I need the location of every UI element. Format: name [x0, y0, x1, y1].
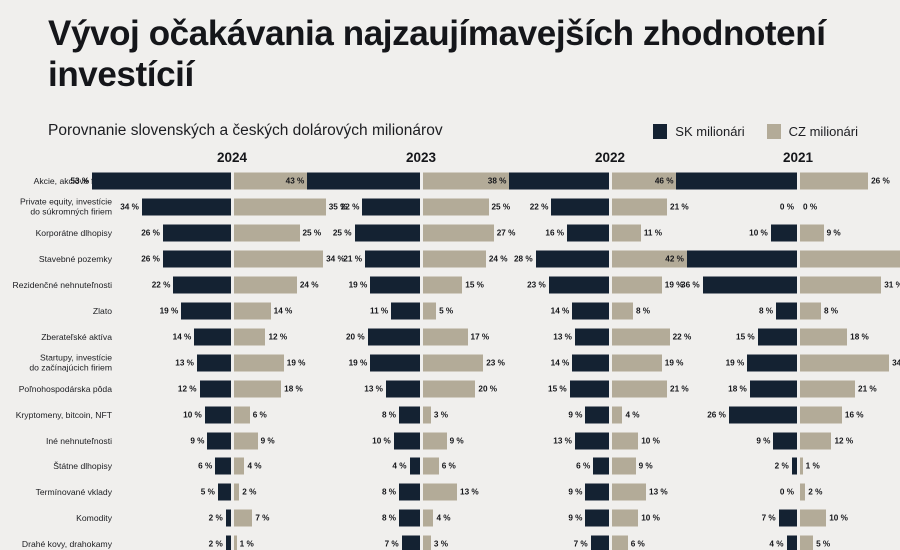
legend-item-sk[interactable]: SK milionári — [653, 124, 744, 139]
bar-cz[interactable] — [234, 458, 244, 475]
category-label: Zberateľské aktíva — [0, 331, 112, 341]
value-label-sk: 20 % — [346, 332, 365, 341]
category-label: Private equity, investície do súkromných… — [0, 196, 112, 217]
value-label-cz: 20 % — [478, 384, 497, 393]
bar-cz[interactable] — [234, 198, 326, 215]
value-label-sk: 9 % — [568, 410, 582, 419]
bar-cz[interactable] — [800, 432, 831, 449]
bar-sk[interactable] — [585, 484, 609, 501]
value-label-sk: 13 % — [364, 384, 383, 393]
value-label-sk: 6 % — [198, 462, 212, 471]
value-label-sk: 12 % — [178, 384, 197, 393]
value-label-cz: 19 % — [287, 358, 306, 367]
bar-cz[interactable] — [423, 302, 436, 319]
bar-sk[interactable] — [386, 380, 420, 397]
category-label: Kryptomeny, bitcoin, NFT — [0, 409, 112, 419]
bar-cz[interactable] — [800, 484, 805, 501]
value-label-cz: 4 % — [247, 462, 261, 471]
category-label: Zlato — [0, 306, 112, 316]
bar-cz[interactable] — [612, 198, 667, 215]
value-label-sk: 36 % — [681, 280, 700, 289]
bar-sk[interactable] — [181, 302, 231, 319]
chart-subtitle: Porovnanie slovenských a českých dolárov… — [48, 122, 443, 140]
bar-sk[interactable] — [551, 198, 609, 215]
page-title: Vývoj očakávania najzaujímavejších zhodn… — [48, 14, 848, 95]
category-label: Korporátne dlhopisy — [0, 228, 112, 238]
value-label-cz: 15 % — [465, 280, 484, 289]
bar-cz[interactable] — [234, 380, 281, 397]
bar-cz[interactable] — [423, 458, 439, 475]
value-label-sk: 13 % — [553, 436, 572, 445]
bar-cz[interactable] — [800, 510, 826, 527]
value-label-cz: 12 % — [268, 332, 287, 341]
bar-cz[interactable] — [234, 484, 239, 501]
value-label-sk: 10 % — [749, 228, 768, 237]
bar-sk[interactable] — [536, 250, 609, 267]
bar-sk[interactable] — [593, 458, 609, 475]
bar-cz[interactable] — [423, 198, 489, 215]
category-label: Startupy, investície do začínajúcich fir… — [0, 352, 112, 373]
legend-swatch-icon — [653, 124, 667, 139]
value-label-sk: 26 % — [141, 228, 160, 237]
bar-cz[interactable] — [234, 510, 252, 527]
bar-sk[interactable] — [197, 354, 231, 371]
category-label: Komodity — [0, 513, 112, 523]
bar-cz[interactable] — [612, 224, 641, 241]
bar-sk[interactable] — [591, 536, 609, 550]
value-label-cz: 18 % — [850, 332, 869, 341]
category-label: Drahé kovy, drahokamy — [0, 539, 112, 549]
bar-sk[interactable] — [226, 536, 231, 550]
value-label-sk: 4 % — [769, 540, 783, 549]
value-label-cz: 9 % — [450, 436, 464, 445]
value-label-cz: 25 % — [303, 228, 322, 237]
value-label-sk: 7 % — [385, 540, 399, 549]
value-label-cz: 5 % — [816, 540, 830, 549]
value-label-cz: 9 % — [639, 462, 653, 471]
bar-sk[interactable] — [509, 173, 609, 190]
chart-page: Vývoj očakávania najzaujímavejších zhodn… — [0, 0, 900, 550]
bar-sk[interactable] — [773, 432, 797, 449]
year-header-2023: 2023 — [406, 150, 436, 165]
value-label-cz: 31 % — [884, 280, 900, 289]
value-label-sk: 34 % — [120, 202, 139, 211]
bar-sk[interactable] — [200, 380, 231, 397]
bar-sk[interactable] — [779, 510, 797, 527]
bar-cz[interactable] — [800, 406, 842, 423]
value-label-cz: 17 % — [471, 332, 490, 341]
value-label-sk: 19 % — [349, 280, 368, 289]
bar-sk[interactable] — [771, 224, 797, 241]
bar-sk[interactable] — [750, 380, 797, 397]
bar-sk[interactable] — [207, 432, 231, 449]
year-header-2022: 2022 — [595, 150, 625, 165]
bar-sk[interactable] — [394, 432, 420, 449]
value-label-cz: 14 % — [274, 306, 293, 315]
value-label-sk: 25 % — [333, 228, 352, 237]
bar-cz[interactable] — [612, 328, 670, 345]
bar-sk[interactable] — [758, 328, 797, 345]
value-label-cz: 22 % — [673, 332, 692, 341]
value-label-sk: 26 % — [707, 410, 726, 419]
bar-cz[interactable] — [423, 484, 457, 501]
bar-cz[interactable] — [423, 406, 431, 423]
value-label-sk: 19 % — [726, 358, 745, 367]
value-label-sk: 7 % — [574, 540, 588, 549]
value-label-cz: 7 % — [255, 514, 269, 523]
value-label-cz: 9 % — [261, 436, 275, 445]
subtitle-legend-row: Porovnanie slovenských a českých dolárov… — [48, 118, 858, 144]
value-label-sk: 0 % — [780, 488, 794, 497]
value-label-cz: 6 % — [253, 410, 267, 419]
value-label-cz: 5 % — [439, 306, 453, 315]
value-label-sk: 4 % — [392, 462, 406, 471]
bar-cz[interactable] — [423, 250, 486, 267]
bar-sk[interactable] — [575, 328, 609, 345]
bar-cz[interactable] — [612, 536, 628, 550]
value-label-cz: 0 % — [803, 202, 817, 211]
category-label: Rezidenčné nehnuteľnosti — [0, 280, 112, 290]
bar-sk[interactable] — [572, 302, 609, 319]
value-label-cz: 1 % — [240, 540, 254, 549]
category-label: Stavebné pozemky — [0, 254, 112, 264]
bar-cz[interactable] — [800, 380, 855, 397]
bar-cz[interactable] — [612, 406, 622, 423]
value-label-sk: 2 % — [209, 514, 223, 523]
value-label-cz: 2 % — [242, 488, 256, 497]
value-label-cz: 21 % — [670, 384, 689, 393]
bar-sk[interactable] — [585, 510, 609, 527]
bar-cz[interactable] — [612, 354, 662, 371]
value-label-cz: 34 % — [326, 254, 345, 263]
bar-cz[interactable] — [612, 276, 662, 293]
value-label-sk: 43 % — [286, 177, 305, 186]
bar-sk[interactable] — [391, 302, 420, 319]
value-label-cz: 18 % — [284, 384, 303, 393]
bar-sk[interactable] — [776, 302, 797, 319]
bar-sk[interactable] — [370, 276, 420, 293]
year-header-2024: 2024 — [217, 150, 247, 165]
bar-cz[interactable] — [234, 224, 300, 241]
year-header-2021: 2021 — [783, 150, 813, 165]
value-label-cz: 4 % — [625, 410, 639, 419]
bar-sk[interactable] — [163, 250, 231, 267]
value-label-cz: 24 % — [300, 280, 319, 289]
category-label: Termínované vklady — [0, 487, 112, 497]
value-label-cz: 23 % — [486, 358, 505, 367]
bar-sk[interactable] — [215, 458, 231, 475]
value-label-sk: 11 % — [370, 306, 388, 315]
bar-cz[interactable] — [423, 224, 494, 241]
value-label-cz: 13 % — [649, 488, 668, 497]
legend-label: SK milionári — [675, 124, 744, 139]
bar-sk[interactable] — [399, 484, 420, 501]
bar-sk[interactable] — [355, 224, 421, 241]
bar-cz[interactable] — [800, 354, 889, 371]
value-label-cz: 10 % — [829, 514, 848, 523]
value-label-cz: 1 % — [806, 462, 820, 471]
value-label-sk: 2 % — [775, 462, 789, 471]
bar-sk[interactable] — [585, 406, 609, 423]
value-label-sk: 8 % — [759, 306, 773, 315]
legend-swatch-icon — [767, 124, 781, 139]
bar-cz[interactable] — [234, 432, 258, 449]
bar-cz[interactable] — [234, 328, 265, 345]
value-label-sk: 22 % — [152, 280, 171, 289]
bar-cz[interactable] — [234, 250, 323, 267]
value-label-cz: 11 % — [644, 228, 662, 237]
value-label-cz: 21 % — [858, 384, 877, 393]
value-label-sk: 8 % — [382, 514, 396, 523]
bar-cz[interactable] — [612, 510, 638, 527]
value-label-sk: 10 % — [372, 436, 391, 445]
bar-sk[interactable] — [549, 276, 609, 293]
bar-sk[interactable] — [142, 198, 231, 215]
bar-sk[interactable] — [92, 173, 231, 190]
bar-cz[interactable] — [423, 432, 447, 449]
value-label-cz: 4 % — [436, 514, 450, 523]
value-label-sk: 5 % — [201, 488, 215, 497]
bar-sk[interactable] — [567, 224, 609, 241]
bar-cz[interactable] — [423, 536, 431, 550]
legend-item-cz[interactable]: CZ milionári — [767, 124, 858, 139]
bar-sk[interactable] — [307, 173, 420, 190]
bar-sk[interactable] — [399, 406, 420, 423]
value-label-sk: 46 % — [655, 177, 674, 186]
category-label: Iné nehnuteľnosti — [0, 435, 112, 445]
value-label-cz: 24 % — [489, 254, 508, 263]
value-label-sk: 2 % — [209, 540, 223, 549]
value-label-cz: 6 % — [631, 540, 645, 549]
bar-sk[interactable] — [365, 250, 420, 267]
value-label-sk: 8 % — [382, 488, 396, 497]
category-label: Štátne dlhopisy — [0, 461, 112, 471]
value-label-sk: 42 % — [665, 254, 684, 263]
value-label-cz: 3 % — [434, 410, 448, 419]
legend-label: CZ milionári — [789, 124, 858, 139]
bar-sk[interactable] — [792, 458, 797, 475]
value-label-sk: 38 % — [488, 177, 507, 186]
value-label-sk: 10 % — [183, 410, 202, 419]
value-label-sk: 21 % — [343, 254, 362, 263]
value-label-sk: 19 % — [160, 306, 179, 315]
value-label-sk: 13 % — [175, 358, 194, 367]
value-label-sk: 26 % — [141, 254, 160, 263]
value-label-cz: 21 % — [670, 202, 689, 211]
bar-cz[interactable] — [800, 276, 881, 293]
chart-plot-area: 2024202320222021Akcie, akciové fondyPriv… — [0, 150, 900, 550]
value-label-sk: 53 % — [70, 177, 89, 186]
value-label-cz: 9 % — [827, 228, 841, 237]
bar-sk[interactable] — [399, 510, 420, 527]
bar-cz[interactable] — [423, 328, 468, 345]
value-label-cz: 12 % — [834, 436, 853, 445]
value-label-sk: 14 % — [173, 332, 192, 341]
value-label-sk: 7 % — [762, 514, 776, 523]
value-label-cz: 8 % — [636, 306, 650, 315]
value-label-sk: 15 % — [736, 332, 755, 341]
value-label-cz: 25 % — [492, 202, 511, 211]
bar-cz[interactable] — [423, 354, 483, 371]
value-label-sk: 22 % — [530, 202, 549, 211]
bar-cz[interactable] — [234, 354, 284, 371]
value-label-sk: 14 % — [551, 306, 570, 315]
value-label-cz: 3 % — [434, 540, 448, 549]
value-label-sk: 28 % — [514, 254, 533, 263]
bar-cz[interactable] — [423, 510, 433, 527]
value-label-sk: 16 % — [545, 228, 564, 237]
bar-cz[interactable] — [423, 380, 475, 397]
bar-sk[interactable] — [687, 250, 797, 267]
value-label-sk: 9 % — [756, 436, 770, 445]
value-label-cz: 27 % — [497, 228, 516, 237]
value-label-sk: 9 % — [190, 436, 204, 445]
bar-cz[interactable] — [800, 458, 803, 475]
value-label-cz: 8 % — [824, 306, 838, 315]
bar-cz[interactable] — [234, 302, 271, 319]
bar-sk[interactable] — [173, 276, 231, 293]
value-label-sk: 14 % — [551, 358, 570, 367]
bar-sk[interactable] — [368, 328, 420, 345]
bar-sk[interactable] — [163, 224, 231, 241]
bar-cz[interactable] — [800, 302, 821, 319]
bar-cz[interactable] — [800, 536, 813, 550]
value-label-cz: 34 % — [892, 358, 900, 367]
value-label-cz: 26 % — [871, 177, 890, 186]
bar-sk[interactable] — [787, 536, 797, 550]
bar-cz[interactable] — [234, 406, 250, 423]
bar-sk[interactable] — [362, 198, 420, 215]
value-label-sk: 9 % — [568, 488, 582, 497]
value-label-cz: 13 % — [460, 488, 479, 497]
bar-cz[interactable] — [800, 173, 868, 190]
bar-sk[interactable] — [570, 380, 609, 397]
value-label-sk: 13 % — [553, 332, 572, 341]
value-label-sk: 0 % — [780, 202, 794, 211]
bar-sk[interactable] — [747, 354, 797, 371]
bar-cz[interactable] — [612, 432, 638, 449]
bar-sk[interactable] — [370, 354, 420, 371]
value-label-sk: 8 % — [382, 410, 396, 419]
bar-cz[interactable] — [234, 276, 297, 293]
bar-sk[interactable] — [572, 354, 609, 371]
bar-sk[interactable] — [729, 406, 797, 423]
value-label-sk: 15 % — [548, 384, 567, 393]
value-label-sk: 9 % — [568, 514, 582, 523]
bar-sk[interactable] — [410, 458, 420, 475]
bar-cz[interactable] — [612, 484, 646, 501]
bar-sk[interactable] — [205, 406, 231, 423]
value-label-cz: 16 % — [845, 410, 864, 419]
bar-cz[interactable] — [800, 224, 824, 241]
value-label-sk: 18 % — [728, 384, 747, 393]
value-label-sk: 23 % — [527, 280, 546, 289]
value-label-sk: 19 % — [349, 358, 368, 367]
bar-cz[interactable] — [234, 536, 237, 550]
bar-sk[interactable] — [226, 510, 231, 527]
value-label-cz: 6 % — [442, 462, 456, 471]
bar-sk[interactable] — [703, 276, 797, 293]
bar-cz[interactable] — [800, 328, 847, 345]
value-label-cz: 10 % — [641, 514, 660, 523]
bar-cz[interactable] — [800, 250, 900, 267]
value-label-sk: 22 % — [341, 202, 360, 211]
bar-cz[interactable] — [612, 302, 633, 319]
bar-cz[interactable] — [612, 380, 667, 397]
category-label: Poľnohospodárska pôda — [0, 383, 112, 393]
bar-sk[interactable] — [575, 432, 609, 449]
bar-sk[interactable] — [402, 536, 420, 550]
value-label-cz: 19 % — [665, 358, 684, 367]
bar-sk[interactable] — [194, 328, 231, 345]
bar-cz[interactable] — [423, 276, 462, 293]
chart-legend: SK milionáriCZ milionári — [653, 124, 858, 139]
bar-sk[interactable] — [676, 173, 797, 190]
value-label-cz: 2 % — [808, 488, 822, 497]
value-label-sk: 6 % — [576, 462, 590, 471]
bar-cz[interactable] — [612, 458, 636, 475]
bar-sk[interactable] — [218, 484, 231, 501]
value-label-cz: 10 % — [641, 436, 660, 445]
